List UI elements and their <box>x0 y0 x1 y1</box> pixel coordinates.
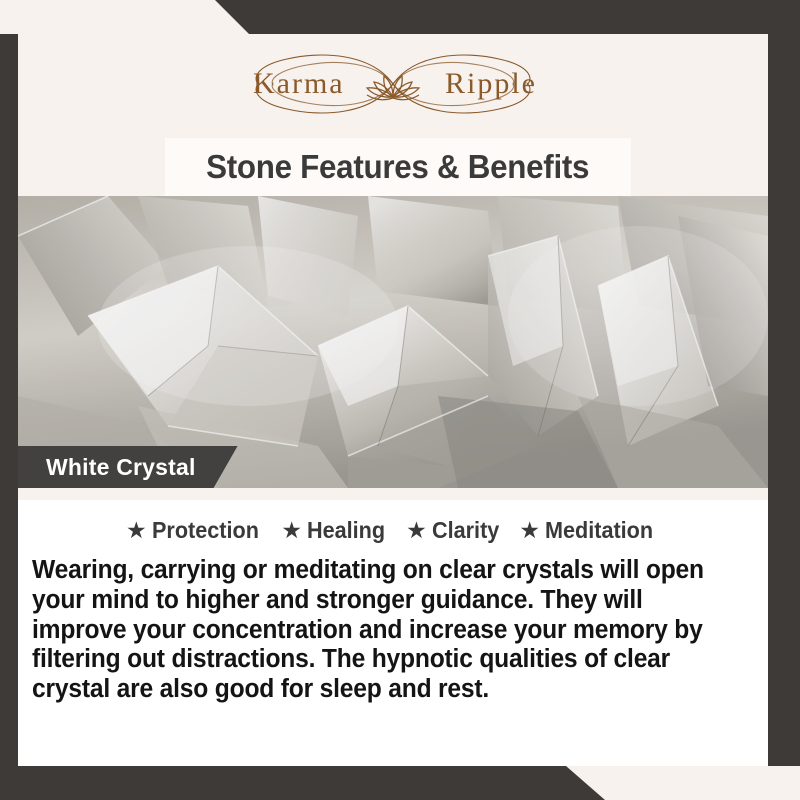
star-icon: ★ <box>126 519 147 542</box>
stone-benefits-poster: Karma Ripple Stone Features & Benefits <box>0 0 800 800</box>
star-icon: ★ <box>406 519 427 542</box>
feature-item: ★ Clarity <box>406 517 503 544</box>
feature-item: ★ Healing <box>281 517 390 544</box>
star-icon: ★ <box>519 519 540 542</box>
features-list: ★ Protection ★ Healing ★ Clarity ★ Medit… <box>18 517 768 544</box>
feature-item: ★ Meditation <box>519 517 660 544</box>
frame-top-bar <box>0 0 800 34</box>
frame-right-bar <box>768 0 800 766</box>
lotus-icon <box>367 76 419 100</box>
crystal-photo: White Crystal <box>18 196 768 488</box>
feature-label: Protection <box>152 517 259 544</box>
feature-label: Clarity <box>432 517 499 544</box>
poster-inner-surface: Karma Ripple Stone Features & Benefits <box>18 34 768 766</box>
benefits-panel: ★ Protection ★ Healing ★ Clarity ★ Medit… <box>18 488 768 766</box>
stone-name-tag: White Crystal <box>18 446 238 488</box>
brand-word-karma: Karma <box>253 67 345 101</box>
crystal-photo-art <box>18 196 768 488</box>
feature-label: Meditation <box>545 517 653 544</box>
frame-left-bar <box>0 34 18 800</box>
feature-item: ★ Protection <box>126 517 265 544</box>
brand-mark: Karma Ripple <box>243 45 543 123</box>
brand-word-ripple: Ripple <box>445 67 537 101</box>
star-icon: ★ <box>281 519 302 542</box>
page-title: Stone Features & Benefits <box>206 148 589 186</box>
feature-label: Healing <box>307 517 385 544</box>
frame-bottom-bar <box>0 766 800 800</box>
benefits-description: Wearing, carrying or meditating on clear… <box>32 556 729 705</box>
stone-name-label: White Crystal <box>46 454 196 481</box>
brand-logo: Karma Ripple <box>18 36 768 132</box>
headline-band: Stone Features & Benefits <box>165 138 631 196</box>
